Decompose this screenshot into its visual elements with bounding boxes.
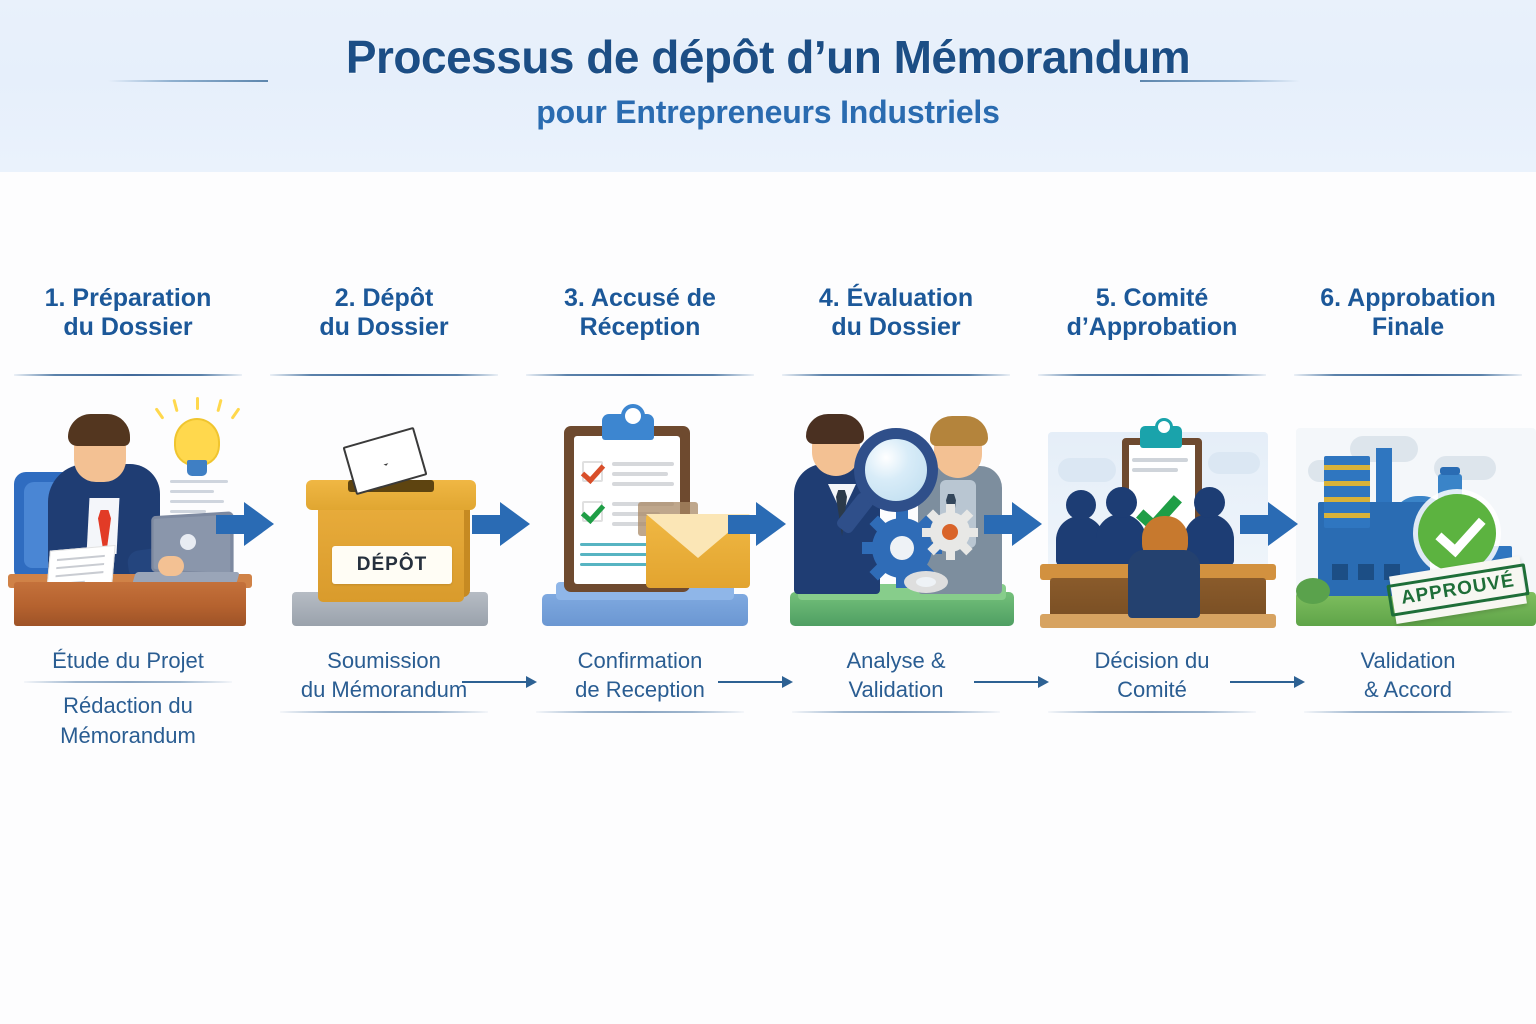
step-3-caption: Confirmation de Reception: [520, 646, 760, 713]
lightbulb-icon: [176, 420, 218, 464]
step-5-caption-rule: [1048, 711, 1256, 713]
page-subtitle: pour Entrepreneurs Industriels: [0, 94, 1536, 131]
laptop-logo: [180, 534, 196, 550]
step-6-illustration: APPROUVÉ: [1288, 384, 1528, 632]
cloud-icon: [1058, 458, 1116, 482]
step-3-caption-rule: [536, 711, 744, 713]
evaluation-scene: [776, 384, 1016, 632]
sheet-line: [612, 462, 674, 466]
step-3-heading: 3. Accusé de Réception: [520, 282, 760, 374]
desk-front: [14, 582, 246, 626]
sheet-line: [612, 472, 668, 476]
committee-member-head: [1106, 487, 1137, 518]
clipboard-scene: [520, 384, 760, 632]
clipboard-clip-icon: [602, 414, 654, 440]
bulb-ray: [196, 397, 199, 410]
factory-window: [1358, 564, 1374, 580]
step-1-rule: [14, 374, 242, 376]
bush-icon: [1296, 578, 1330, 604]
step-1-preparation[interactable]: 1. Préparation du Dossier: [0, 282, 256, 792]
step-arrow-5-to-6: [1240, 502, 1298, 546]
sheet-line-teal: [580, 563, 650, 566]
step-1-caption: Étude du Projet Rédaction du Mémorandum: [8, 646, 248, 750]
bulb-ray: [231, 407, 241, 419]
step-4-caption-rule: [792, 711, 1000, 713]
step-2-caption-rule: [280, 711, 488, 713]
step-5-comite[interactable]: 5. Comité d’Approbation: [1024, 282, 1280, 792]
step-6-caption-rule: [1304, 711, 1512, 713]
factory-silo: [1324, 456, 1370, 528]
step-4-caption: Analyse & Validation: [776, 646, 1016, 713]
step-1-caption-line-2: Rédaction du Mémorandum: [8, 691, 248, 750]
hair: [68, 414, 130, 446]
step-5-heading: 5. Comité d’Approbation: [1032, 282, 1272, 374]
step-5-rule: [1038, 374, 1266, 376]
committee-scene: [1032, 384, 1272, 632]
cloud-icon: [1208, 452, 1260, 474]
process-steps: 1. Préparation du Dossier: [0, 282, 1536, 792]
step-2-caption: Soumission du Mémorandum: [264, 646, 504, 713]
step-arrow-3-to-4: [728, 502, 786, 546]
header-band: Processus de dépôt d’un Mémorandum pour …: [0, 0, 1536, 172]
step-2-rule: [270, 374, 498, 376]
clipboard-line: [1132, 468, 1178, 472]
step-1-caption-rule: [24, 681, 232, 683]
committee-member-head: [1066, 490, 1096, 520]
step-3-accuse-reception[interactable]: 3. Accusé de Réception: [512, 282, 768, 792]
sheet-line: [612, 482, 674, 486]
step-5-illustration: [1032, 384, 1272, 632]
step-1-illustration: [8, 384, 248, 632]
factory-approved-scene: APPROUVÉ: [1288, 384, 1528, 632]
bulb-ray: [172, 399, 178, 412]
factory-window: [1332, 564, 1348, 580]
step-2-illustration: DÉPÔT: [264, 384, 504, 632]
bulb-ray: [155, 407, 165, 419]
bulb-ray: [216, 399, 222, 412]
step-6-approbation-finale[interactable]: 6. Approbation Finale: [1280, 282, 1536, 792]
step-1-heading: 1. Préparation du Dossier: [8, 282, 248, 374]
step-4-illustration: [776, 384, 1016, 632]
green-check-badge: [1418, 494, 1496, 572]
step-6-caption-line-1: Validation & Accord: [1288, 646, 1528, 705]
step-4-rule: [782, 374, 1010, 376]
deposit-box-scene: DÉPÔT: [264, 384, 504, 632]
applicant-body: [1128, 550, 1200, 618]
committee-member-head: [1194, 487, 1225, 518]
clipboard-clip-icon: [1140, 426, 1182, 448]
hand: [158, 556, 184, 576]
step-2-heading: 2. Dépôt du Dossier: [264, 282, 504, 374]
step-2-depot[interactable]: 2. Dépôt du Dossier DÉPÔT Soumission du …: [256, 282, 512, 792]
step-3-illustration: [520, 384, 760, 632]
lightbulb-base: [187, 460, 207, 476]
magnifying-glass-icon: [854, 428, 938, 512]
step-arrow-2-to-3: [472, 502, 530, 546]
desk-scene: [8, 384, 248, 632]
step-3-rule: [526, 374, 754, 376]
page-title: Processus de dépôt d’un Mémorandum: [0, 32, 1536, 84]
title-block: Processus de dépôt d’un Mémorandum pour …: [0, 32, 1536, 131]
step-arrow-4-to-5: [984, 502, 1042, 546]
step-arrow-1-to-2: [216, 502, 274, 546]
step-4-heading: 4. Évaluation du Dossier: [776, 282, 1016, 374]
step-6-rule: [1294, 374, 1522, 376]
box-label: DÉPÔT: [332, 546, 452, 584]
step-6-heading: 6. Approbation Finale: [1288, 282, 1528, 374]
step-5-caption: Décision du Comité: [1032, 646, 1272, 713]
step-6-caption: Validation & Accord: [1288, 646, 1528, 713]
step-1-caption-line-1: Étude du Projet: [8, 646, 248, 675]
step-4-evaluation[interactable]: 4. Évaluation du Dossier: [768, 282, 1024, 792]
clipboard-line: [1132, 458, 1188, 462]
